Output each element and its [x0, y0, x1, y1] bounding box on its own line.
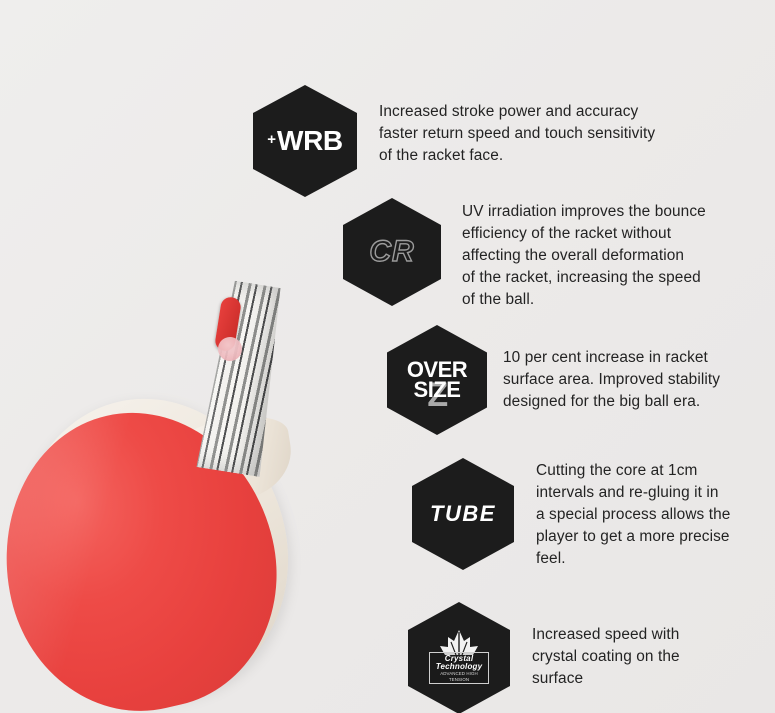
wrb-logo-icon: + WRB: [253, 85, 357, 197]
feature-row-crystal: Crystal Technology ADVANCED HIGH TENSION…: [408, 602, 747, 713]
crystal-label-line2: Technology: [432, 663, 486, 671]
feature-row-tube: TUBE Cutting the core at 1cm intervals a…: [412, 458, 775, 570]
wrb-plus-glyph: +: [267, 132, 276, 147]
feature-row-oversize: OVER Z SIZE 10 per cent increase in rack…: [387, 325, 758, 435]
feature-row-cr: CR UV irradiation improves the bounce ef…: [343, 198, 762, 310]
oversize-label-bottom: SIZE: [407, 380, 467, 400]
infographic-canvas: + WRB Increased stroke power and accurac…: [0, 0, 775, 713]
feature-row-wrb: + WRB Increased stroke power and accurac…: [253, 85, 689, 197]
crystal-plate: Crystal Technology ADVANCED HIGH TENSION: [429, 652, 489, 684]
feature-description-cr: UV irradiation improves the bounce effic…: [462, 201, 762, 310]
feature-description-wrb: Increased stroke power and accuracy fast…: [379, 101, 689, 167]
feature-description-tube: Cutting the core at 1cm intervals and re…: [536, 460, 775, 569]
feature-description-oversize: 10 per cent increase in racket surface a…: [503, 347, 758, 413]
crystal-technology-logo-icon: Crystal Technology ADVANCED HIGH TENSION: [408, 602, 510, 713]
cr-logo-icon: CR: [343, 198, 441, 306]
crystal-label-line3: ADVANCED HIGH TENSION: [432, 671, 486, 682]
feature-description-crystal: Increased speed with crystal coating on …: [532, 624, 747, 690]
wrb-label: WRB: [277, 127, 343, 155]
tube-label: TUBE: [430, 501, 496, 527]
tube-logo-icon: TUBE: [412, 458, 514, 570]
oversize-logo-icon: OVER Z SIZE: [387, 325, 487, 435]
cr-label: CR: [369, 235, 414, 269]
